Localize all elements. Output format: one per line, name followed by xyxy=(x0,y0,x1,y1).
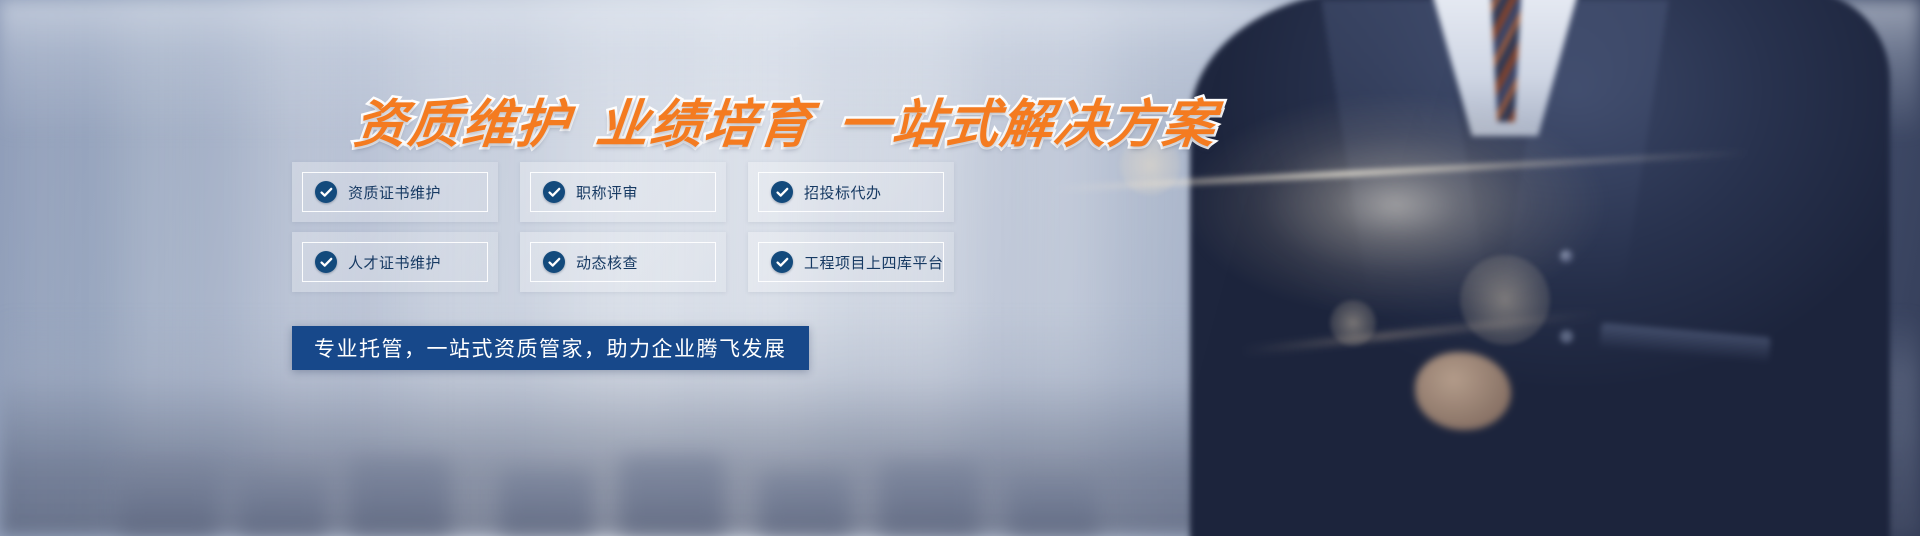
headline-part-3: 一站式解决方案 xyxy=(835,96,1219,154)
feature-cell-talent-certificate-maintenance[interactable]: 人才证书维护 xyxy=(292,232,498,292)
feature-row-1: 资质证书维护 职称评审 招投 xyxy=(292,162,960,222)
feature-grid: 资质证书维护 职称评审 招投 xyxy=(292,162,960,302)
feature-label: 动态核查 xyxy=(576,252,638,273)
promo-banner: 资质维护业绩培育一站式解决方案 资质证书维护 xyxy=(0,0,1920,536)
feature-label: 招投标代办 xyxy=(804,182,882,203)
check-circle-icon xyxy=(771,181,793,203)
check-circle-icon xyxy=(771,251,793,273)
headline: 资质维护业绩培育一站式解决方案 xyxy=(351,82,1221,157)
feature-label: 工程项目上四库平台 xyxy=(804,252,944,273)
tagline-text: 专业托管，一站式资质管家，助力企业腾飞发展 xyxy=(314,333,787,363)
headline-part-1: 资质维护 xyxy=(351,96,573,154)
feature-label: 资质证书维护 xyxy=(348,182,441,203)
feature-label: 人才证书维护 xyxy=(348,252,441,273)
tagline-bar: 专业托管，一站式资质管家，助力企业腾飞发展 xyxy=(292,326,809,370)
feature-cell-title-evaluation[interactable]: 职称评审 xyxy=(520,162,726,222)
feature-cell-qualification-certificate-maintenance[interactable]: 资质证书维护 xyxy=(292,162,498,222)
check-circle-icon xyxy=(315,251,337,273)
headline-part-2: 业绩培育 xyxy=(593,96,815,154)
check-circle-icon xyxy=(543,251,565,273)
feature-cell-dynamic-inspection[interactable]: 动态核查 xyxy=(520,232,726,292)
feature-cell-bidding-agency[interactable]: 招投标代办 xyxy=(748,162,954,222)
check-circle-icon xyxy=(315,181,337,203)
feature-cell-project-four-database-platform[interactable]: 工程项目上四库平台 xyxy=(748,232,954,292)
check-circle-icon xyxy=(543,181,565,203)
feature-label: 职称评审 xyxy=(576,182,638,203)
feature-row-2: 人才证书维护 动态核查 工程 xyxy=(292,232,960,292)
